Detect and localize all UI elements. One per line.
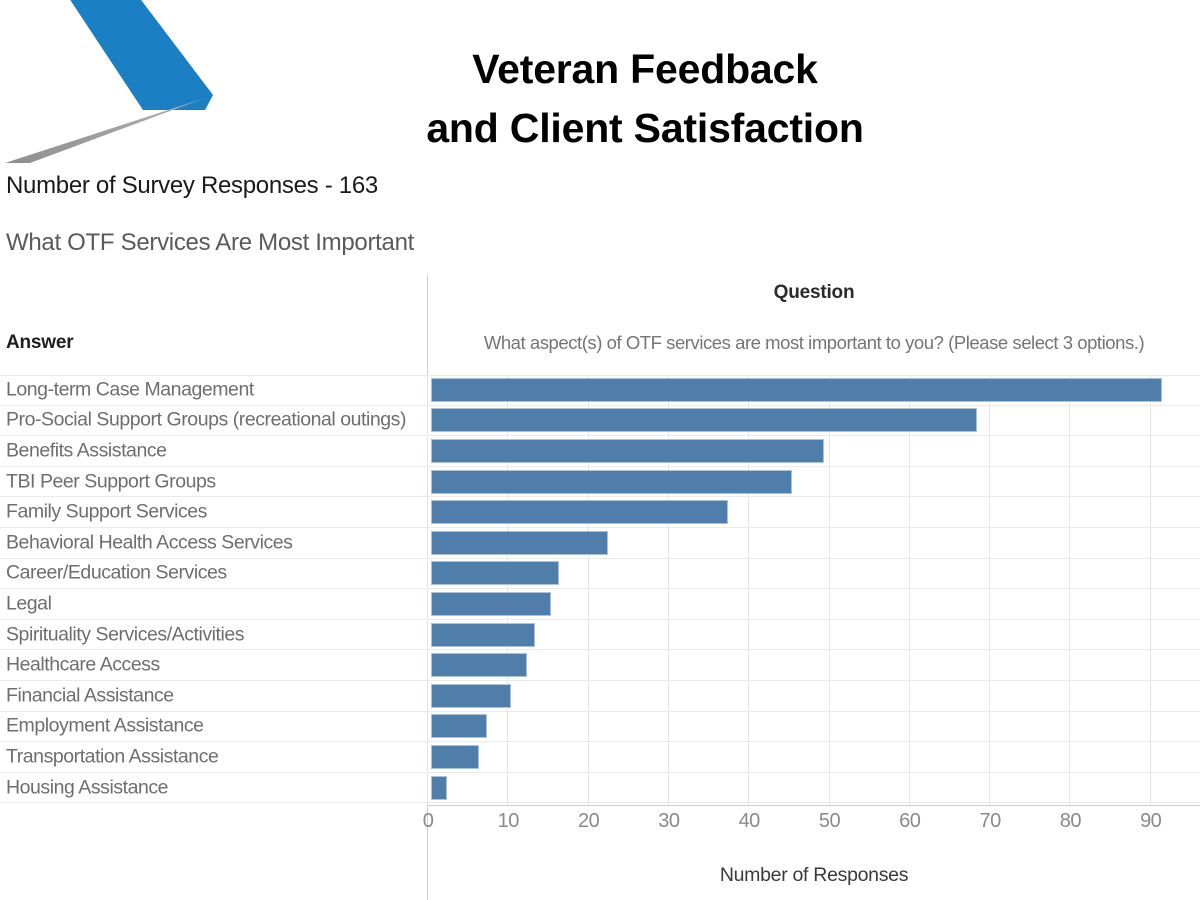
question-column-header: Question bbox=[428, 282, 1200, 304]
table-row[interactable]: Transportation Assistance bbox=[0, 742, 1200, 773]
table-row[interactable]: Pro-Social Support Groups (recreational … bbox=[0, 406, 1200, 437]
answer-column-header: Answer bbox=[6, 332, 73, 354]
x-tick-label: 80 bbox=[1060, 810, 1081, 833]
x-tick-label: 50 bbox=[819, 810, 840, 833]
bar-cell bbox=[428, 406, 1200, 436]
row-label: Spirituality Services/Activities bbox=[6, 623, 244, 646]
row-label: Behavioral Health Access Services bbox=[6, 531, 292, 554]
table-row[interactable]: Long-term Case Management bbox=[0, 375, 1200, 406]
table-row[interactable]: Spirituality Services/Activities bbox=[0, 620, 1200, 651]
x-tick-label: 10 bbox=[498, 810, 519, 833]
row-label: Career/Education Services bbox=[6, 562, 227, 585]
page-title: Veteran Feedback and Client Satisfaction bbox=[240, 40, 1050, 159]
row-label: Long-term Case Management bbox=[6, 379, 254, 402]
x-tick-label: 0 bbox=[423, 810, 434, 833]
bar[interactable] bbox=[431, 470, 792, 494]
row-label: Legal bbox=[6, 592, 51, 615]
chart-rows: Long-term Case ManagementPro-Social Supp… bbox=[0, 375, 1200, 805]
question-text: What aspect(s) of OTF services are most … bbox=[428, 332, 1200, 354]
bar[interactable] bbox=[431, 439, 824, 463]
x-tick-label: 70 bbox=[979, 810, 1000, 833]
row-label: Financial Assistance bbox=[6, 684, 174, 707]
bar[interactable] bbox=[431, 776, 447, 800]
title-line-1: Veteran Feedback bbox=[240, 40, 1050, 99]
bar[interactable] bbox=[431, 684, 511, 708]
bar[interactable] bbox=[431, 561, 559, 585]
table-row[interactable]: Career/Education Services bbox=[0, 559, 1200, 590]
table-row[interactable]: Housing Assistance bbox=[0, 773, 1200, 804]
x-tick-label: 30 bbox=[658, 810, 679, 833]
table-row[interactable]: Benefits Assistance bbox=[0, 436, 1200, 467]
table-row[interactable]: Financial Assistance bbox=[0, 681, 1200, 712]
row-label: Housing Assistance bbox=[6, 776, 168, 799]
row-label: Transportation Assistance bbox=[6, 745, 218, 768]
x-axis-title: Number of Responses bbox=[428, 864, 1200, 887]
bar[interactable] bbox=[431, 592, 551, 616]
bar[interactable] bbox=[431, 714, 487, 738]
bar-cell bbox=[428, 528, 1200, 558]
table-row[interactable]: Healthcare Access bbox=[0, 650, 1200, 681]
row-label: TBI Peer Support Groups bbox=[6, 470, 216, 493]
row-label: Employment Assistance bbox=[6, 715, 204, 738]
bar-cell bbox=[428, 589, 1200, 619]
x-tick-label: 40 bbox=[739, 810, 760, 833]
x-tick-label: 90 bbox=[1140, 810, 1161, 833]
bar-cell bbox=[428, 681, 1200, 711]
bar[interactable] bbox=[431, 745, 479, 769]
bar[interactable] bbox=[431, 408, 977, 432]
table-row[interactable]: Family Support Services bbox=[0, 497, 1200, 528]
table-row[interactable]: Behavioral Health Access Services bbox=[0, 528, 1200, 559]
bar-cell bbox=[428, 650, 1200, 680]
bar-cell bbox=[428, 620, 1200, 650]
table-row[interactable]: Legal bbox=[0, 589, 1200, 620]
x-tick-label: 20 bbox=[578, 810, 599, 833]
bar[interactable] bbox=[431, 531, 608, 555]
x-tick-label: 60 bbox=[899, 810, 920, 833]
row-label: Family Support Services bbox=[6, 501, 207, 524]
bar-cell bbox=[428, 497, 1200, 527]
row-label: Benefits Assistance bbox=[6, 439, 167, 462]
bar-cell bbox=[428, 559, 1200, 589]
chevron-logo bbox=[0, 0, 230, 165]
bar-cell bbox=[428, 773, 1200, 803]
title-line-2: and Client Satisfaction bbox=[240, 99, 1050, 158]
x-axis-ticks: 0102030405060708090 bbox=[0, 810, 1200, 840]
survey-response-count: Number of Survey Responses - 163 bbox=[6, 172, 378, 200]
bar[interactable] bbox=[431, 623, 535, 647]
bar[interactable] bbox=[431, 378, 1162, 402]
bar-cell bbox=[428, 376, 1200, 405]
bar-cell bbox=[428, 467, 1200, 497]
bar-cell bbox=[428, 712, 1200, 742]
bar[interactable] bbox=[431, 500, 728, 524]
bar[interactable] bbox=[431, 653, 527, 677]
table-row[interactable]: TBI Peer Support Groups bbox=[0, 467, 1200, 498]
bar-chart: Answer Question What aspect(s) of OTF se… bbox=[0, 272, 1200, 900]
x-axis-line bbox=[428, 805, 1200, 806]
row-label: Pro-Social Support Groups (recreational … bbox=[6, 409, 406, 432]
bar-cell bbox=[428, 742, 1200, 772]
table-row[interactable]: Employment Assistance bbox=[0, 712, 1200, 743]
slide: Veteran Feedback and Client Satisfaction… bbox=[0, 0, 1200, 900]
bar-cell bbox=[428, 436, 1200, 466]
chart-caption: What OTF Services Are Most Important bbox=[6, 229, 414, 257]
row-label: Healthcare Access bbox=[6, 654, 160, 677]
